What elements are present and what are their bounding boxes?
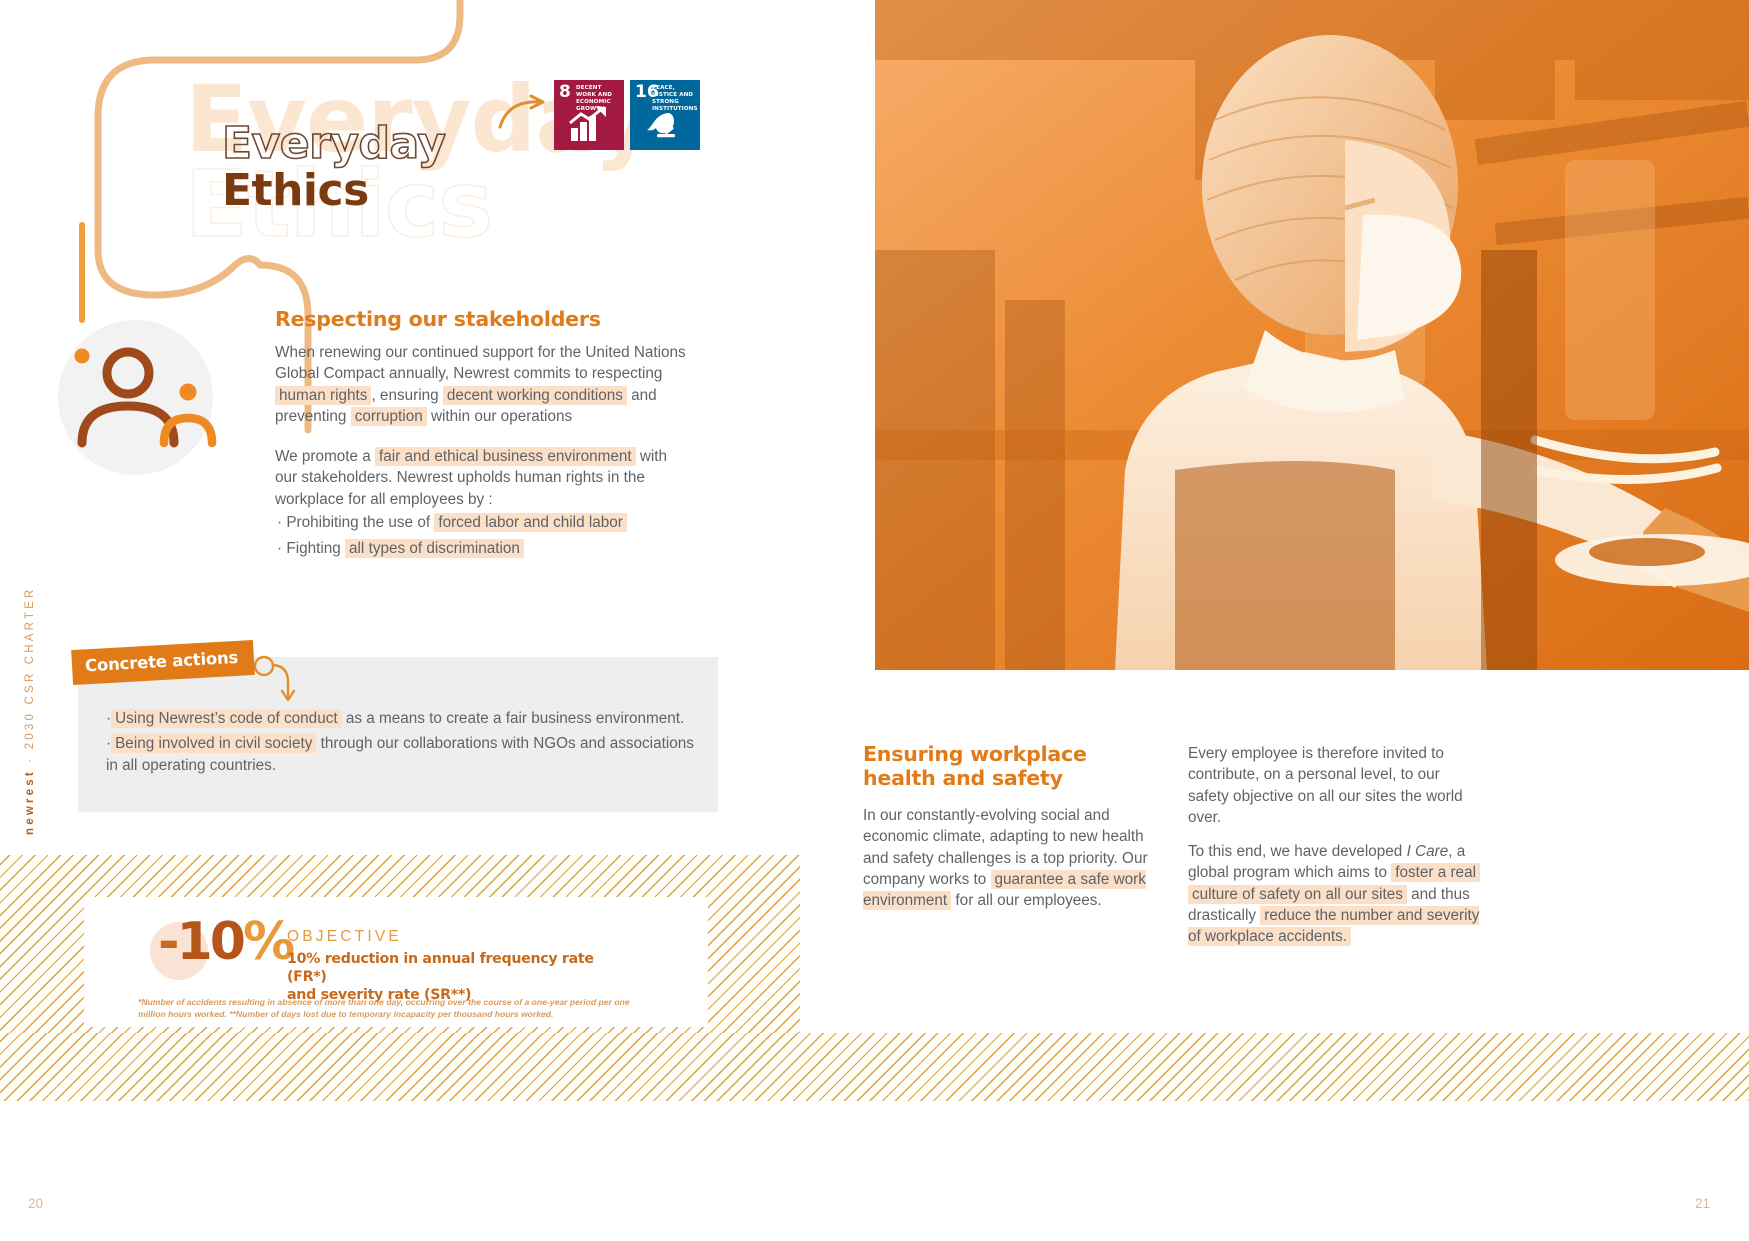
paragraph-2: We promote a fair and ethical business e… xyxy=(275,446,680,510)
dove-gavel-icon xyxy=(630,110,700,147)
icare-program-name: I Care xyxy=(1407,843,1449,860)
sdg-badge-8: 8 DECENT WORK AND ECONOMIC GROWTH xyxy=(554,80,624,150)
health-heading-line2: health and safety xyxy=(863,766,1183,790)
para2-text-1: We promote a xyxy=(275,448,375,465)
health-column-2-para-2: To this end, we have developed I Care, a… xyxy=(1188,841,1481,947)
para1-highlight-decent-working-conditions: decent working conditions xyxy=(443,386,627,405)
col2-text-1: To this end, we have developed xyxy=(1188,843,1407,860)
para1-text-2: , ensuring xyxy=(371,387,442,404)
bullet-1-text: Fighting xyxy=(286,540,345,557)
list-item: ·Being involved in civil society through… xyxy=(106,733,706,776)
section-heading-stakeholders: Respecting our stakeholders xyxy=(275,307,601,331)
page-number-left: 20 xyxy=(28,1196,43,1211)
col2-highlight-foster-real: foster a real xyxy=(1391,863,1480,882)
para1-highlight-corruption: corruption xyxy=(351,407,427,426)
bullet-0-highlight: forced labor and child labor xyxy=(434,513,627,532)
objective-percent-sign: % xyxy=(243,912,292,972)
spine-brand: newrest xyxy=(24,769,36,835)
stakeholder-people-icon xyxy=(60,330,230,475)
objective-line-1: 10% reduction in annual frequency rate (… xyxy=(287,950,617,986)
list-item: · Fighting all types of discrimination xyxy=(277,538,697,559)
health-heading-line1: Ensuring workplace xyxy=(863,742,1183,766)
concrete-0-text: as a means to create a fair business env… xyxy=(342,710,685,727)
page-number-right: 21 xyxy=(1695,1196,1710,1211)
para1-text-1: When renewing our continued support for … xyxy=(275,344,686,382)
objective-big-number: -10% xyxy=(158,916,292,968)
curved-down-arrow-icon xyxy=(252,650,308,715)
objective-number: 10 xyxy=(177,912,243,972)
page-title-line2: Ethics xyxy=(222,168,445,214)
page-title-line1: Everyday xyxy=(222,122,445,166)
bullet-0-text: Prohibiting the use of xyxy=(286,514,434,531)
spine-label: newrest · 2030 CSR CHARTER xyxy=(24,586,36,835)
objective-footnote: *Number of accidents resulting in absenc… xyxy=(138,997,648,1020)
paragraph-1: When renewing our continued support for … xyxy=(275,342,695,427)
health-column-1: In our constantly-evolving social and ec… xyxy=(863,805,1155,911)
sdg-badge-16: 16 PEACE, JUSTICE AND STRONG INSTITUTION… xyxy=(630,80,700,150)
section-heading-health-safety: Ensuring workplace health and safety xyxy=(863,742,1183,790)
list-item: · Prohibiting the use of forced labor an… xyxy=(277,512,697,533)
objective-kicker: OBJECTIVE xyxy=(287,928,402,946)
food-production-worker-photo xyxy=(875,0,1749,670)
magazine-spread: Everyday Ethics Everyday Ethics 8 DECENT… xyxy=(0,0,1749,1241)
concrete-1-highlight: Being involved in civil society xyxy=(111,734,316,753)
objective-minus-sign: - xyxy=(158,912,177,972)
bullet-glyph: · xyxy=(277,540,282,557)
para1-highlight-human-rights: human rights xyxy=(275,386,371,405)
objective-description: 10% reduction in annual frequency rate (… xyxy=(287,950,617,1004)
page-title: Everyday Ethics xyxy=(222,122,445,214)
health-column-2-para-1: Every employee is therefore invited to c… xyxy=(1188,743,1478,828)
spine-text: · 2030 CSR CHARTER xyxy=(24,586,36,769)
sdg-8-number: 8 xyxy=(559,84,571,101)
list-item: ·Using Newrest’s code of conduct as a me… xyxy=(106,708,706,729)
growth-chart-arrow-icon xyxy=(554,106,624,147)
bullet-1-highlight: all types of discrimination xyxy=(345,539,524,558)
concrete-0-highlight: Using Newrest’s code of conduct xyxy=(111,709,342,728)
col2-highlight-culture-of-safety: culture of safety on all our sites xyxy=(1188,885,1407,904)
para2-highlight-fair-ethical: fair and ethical business environment xyxy=(375,447,636,466)
bullet-list: · Prohibiting the use of forced labor an… xyxy=(277,512,697,560)
bullet-glyph: · xyxy=(277,514,282,531)
hatch-band-bottom xyxy=(0,1033,1749,1101)
col1-text-2: for all our employees. xyxy=(951,892,1102,909)
sdg-badges: 8 DECENT WORK AND ECONOMIC GROWTH xyxy=(554,80,700,150)
curved-arrow-icon xyxy=(498,92,558,137)
concrete-actions-list: ·Using Newrest’s code of conduct as a me… xyxy=(106,708,706,776)
para1-text-4: within our operations xyxy=(427,408,572,425)
